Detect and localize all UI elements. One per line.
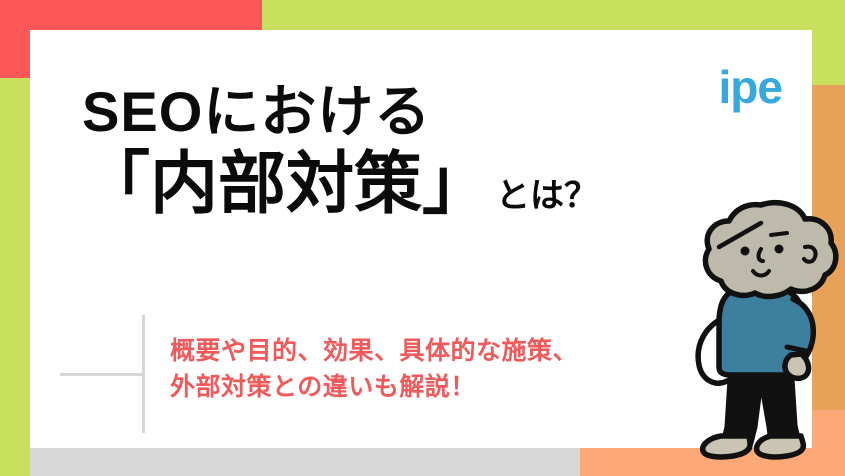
gray-bottom-band (30, 448, 580, 476)
headline-suffix: とは？ (496, 177, 598, 215)
subtitle-line-1: 概要や目的、効果、具体的な施策、 (170, 333, 690, 369)
headline-line-2: 「内部対策」とは？ (82, 148, 682, 221)
headline-line-1: SEOにおける (82, 82, 682, 142)
blog-thumbnail-banner: ipe SEOにおける 「内部対策」とは？ 概要や目的、効果、具体的な施策、 外… (0, 0, 845, 476)
headline-group: SEOにおける 「内部対策」とは？ (82, 82, 682, 222)
headline-keyword: 「内部対策」 (82, 146, 490, 222)
content-card: ipe SEOにおける 「内部対策」とは？ 概要や目的、効果、具体的な施策、 外… (30, 30, 812, 448)
green-right-band (812, 30, 845, 85)
green-top-band (262, 0, 845, 30)
green-bottom-left-band (0, 448, 30, 476)
subtitle-group: 概要や目的、効果、具体的な施策、 外部対策との違いも解説！ (170, 333, 690, 406)
standing-person-illustration (675, 195, 845, 465)
horizontal-rule (60, 373, 144, 376)
subtitle-line-2: 外部対策との違いも解説！ (170, 369, 690, 405)
green-left-band (0, 78, 30, 448)
ipe-logo: ipe (719, 64, 782, 110)
